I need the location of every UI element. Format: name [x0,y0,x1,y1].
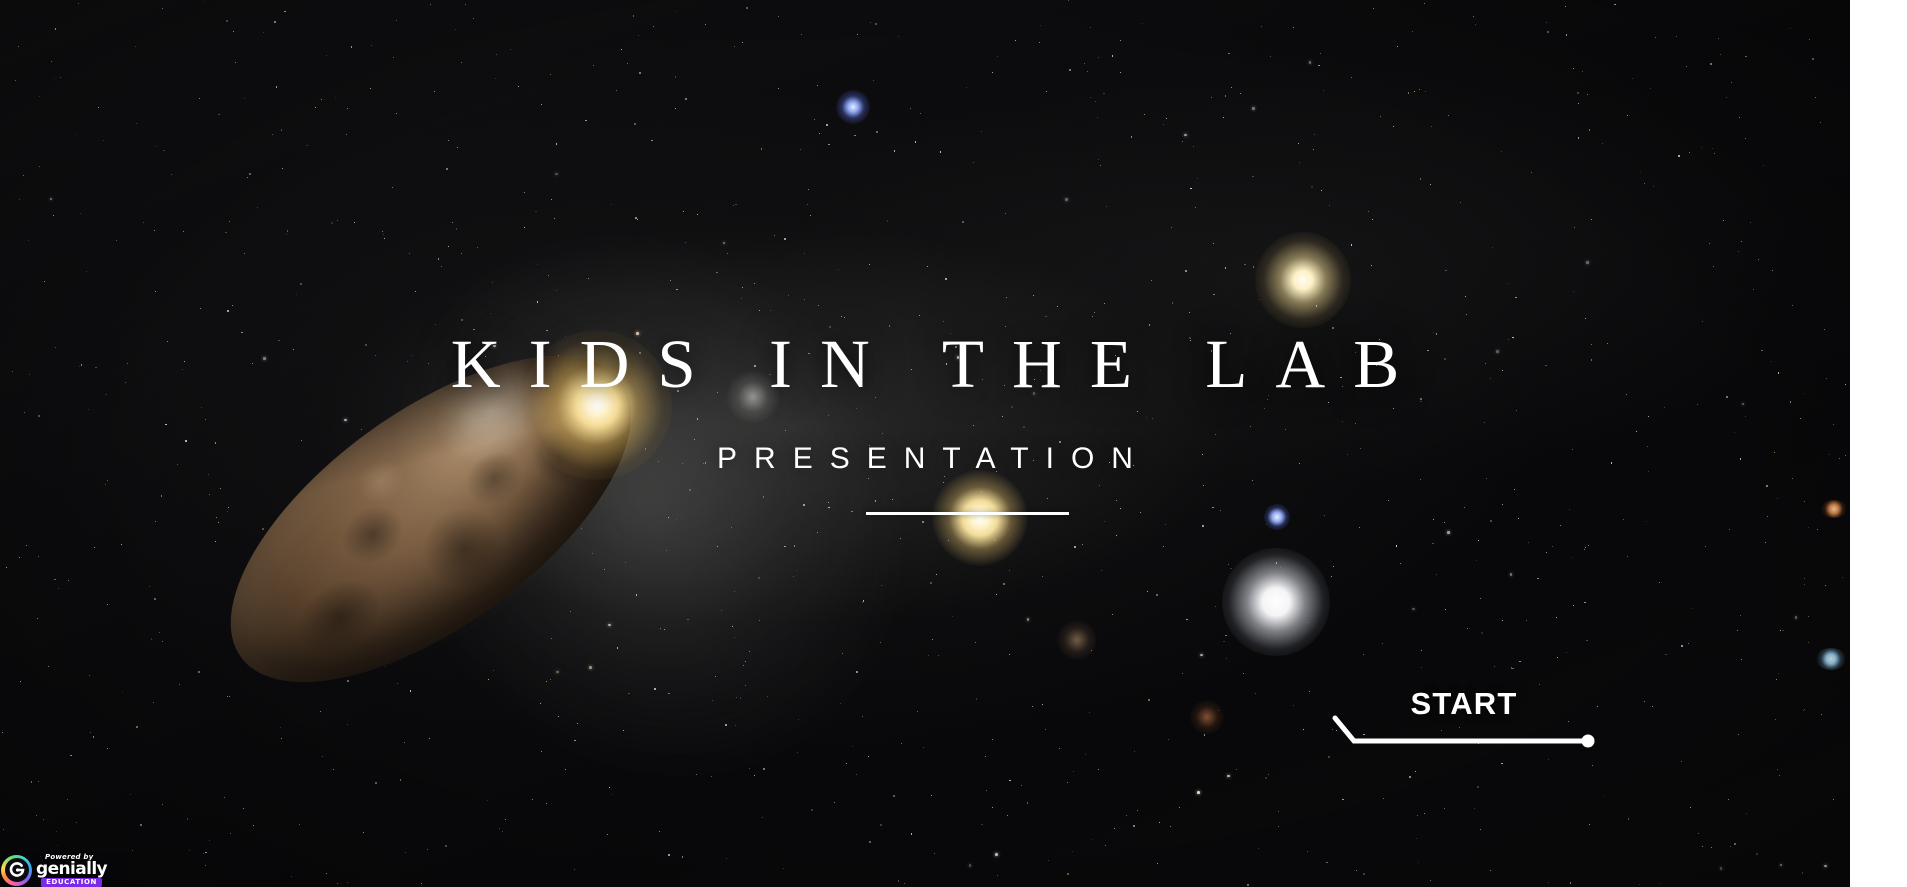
start-underline-graphic [1330,712,1598,754]
genially-spiral-icon [7,860,27,880]
genially-logo-icon [1,855,32,886]
start-endpoint-dot [1582,735,1595,748]
genially-plan-badge: EDUCATION [41,878,102,887]
genially-wordmark: genially [36,861,107,877]
presentation-stage: KIDS IN THE LAB PRESENTATION START [0,0,1907,887]
slide-canvas[interactable]: KIDS IN THE LAB PRESENTATION START [0,0,1850,887]
page-title: KIDS IN THE LAB [0,330,1850,399]
start-button[interactable]: START [1330,688,1598,758]
subtitle-divider [866,512,1069,515]
genially-text-block: Powered by genially EDUCATION [36,853,107,887]
genially-badge[interactable]: Powered by genially EDUCATION [0,853,128,887]
genially-logo-inner [5,858,29,882]
start-underline-path [1335,718,1588,741]
slide-subtitle: PRESENTATION [0,444,1850,474]
slide-content: KIDS IN THE LAB PRESENTATION START [0,0,1850,887]
